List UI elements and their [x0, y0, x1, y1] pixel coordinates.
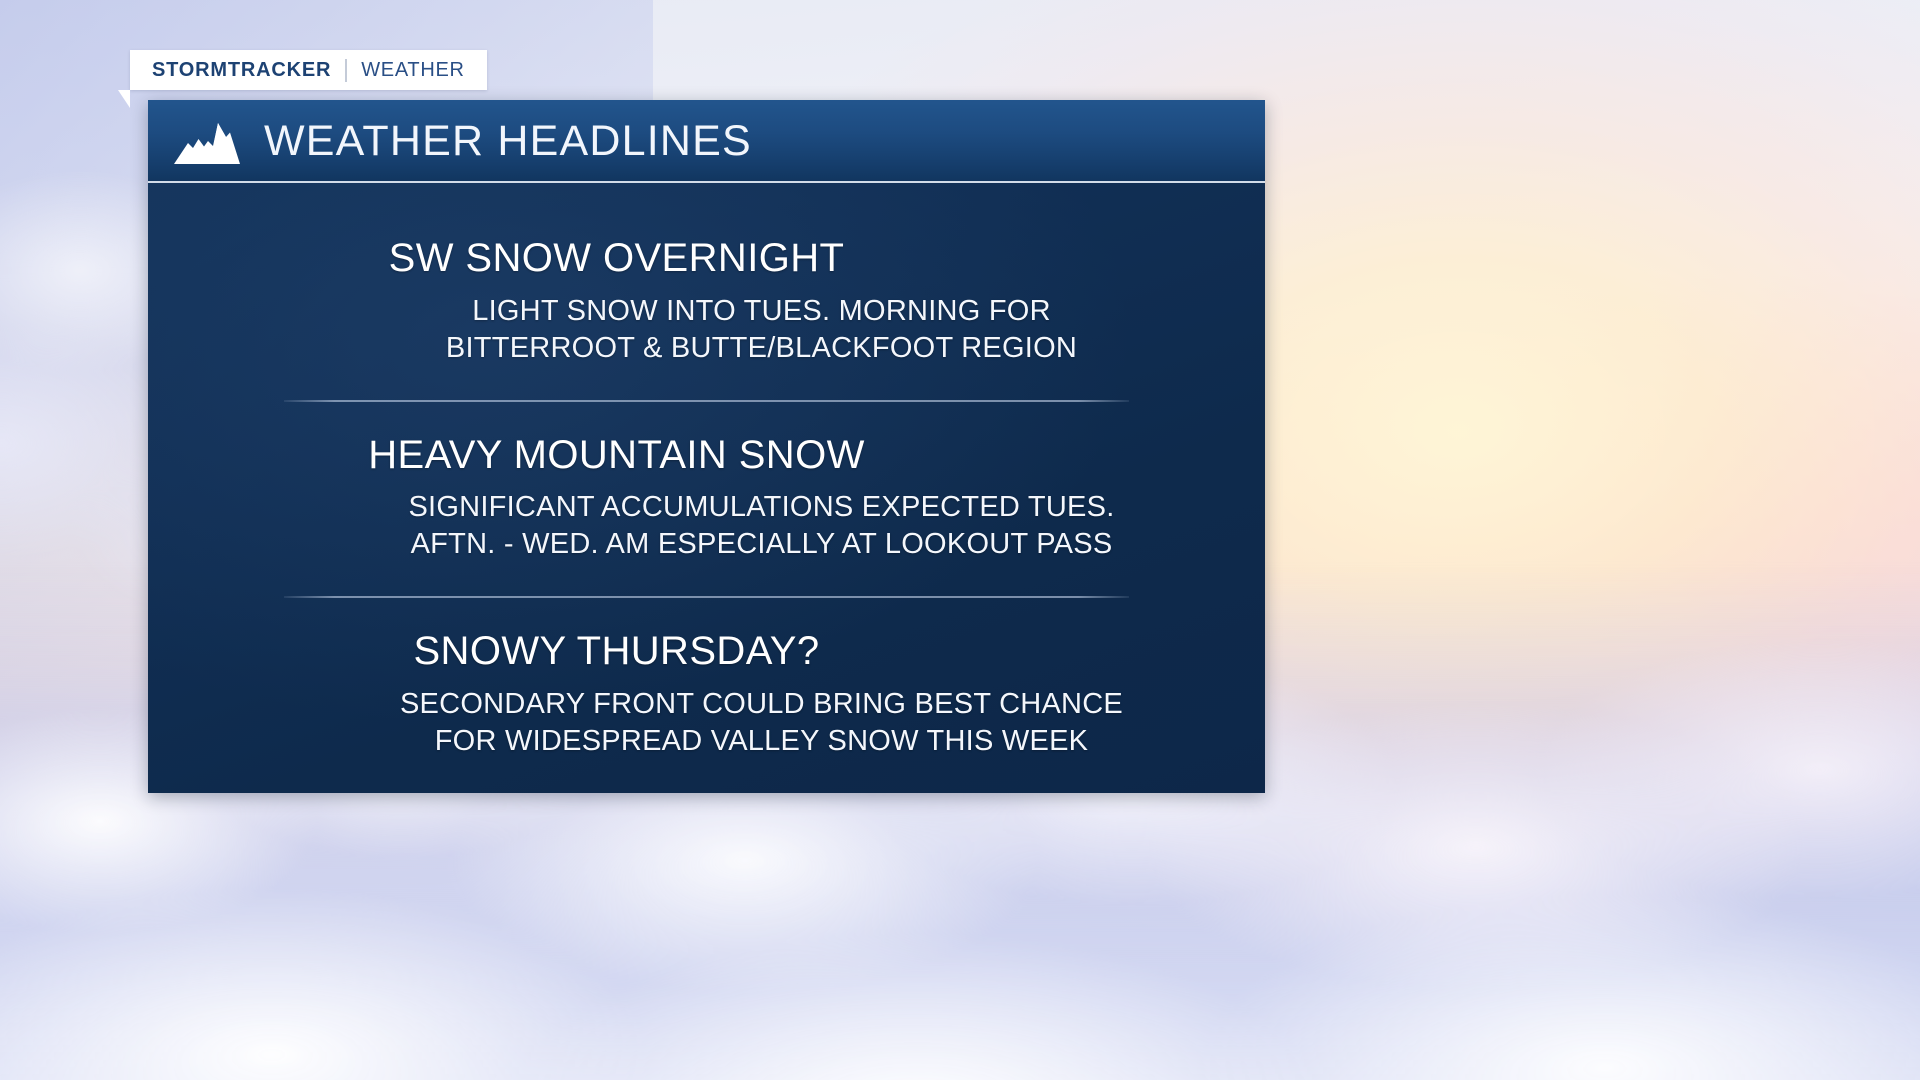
headline-subtext-line1: SECONDARY FRONT COULD BRING BEST CHANCE [400, 688, 1123, 720]
headline-subtext: SIGNIFICANT ACCUMULATIONS EXPECTED TUES.… [188, 489, 1225, 563]
weather-graphic-stage: STORMTRACKER WEATHER WEATHER HEADLINES S… [0, 0, 1920, 1080]
headlines-list: SW SNOW OVERNIGHT LIGHT SNOW INTO TUES. … [148, 183, 1265, 793]
headline-item: SNOWY THURSDAY? SECONDARY FRONT COULD BR… [148, 598, 1265, 793]
headline-item: SW SNOW OVERNIGHT LIGHT SNOW INTO TUES. … [148, 205, 1265, 400]
weather-headlines-panel: WEATHER HEADLINES SW SNOW OVERNIGHT LIGH… [148, 100, 1265, 793]
headline-subtext-line2: AFTN. - WED. AM ESPECIALLY AT LOOKOUT PA… [298, 526, 1225, 563]
headline-subtext-line2: BITTERROOT & BUTTE/BLACKFOOT REGION [298, 330, 1225, 367]
brand-tab-tail [118, 90, 130, 108]
panel-title: WEATHER HEADLINES [264, 117, 752, 166]
headline-title: SNOWY THURSDAY? [188, 629, 1225, 674]
headline-subtext-line1: SIGNIFICANT ACCUMULATIONS EXPECTED TUES. [408, 491, 1114, 523]
headline-subtext-line1: LIGHT SNOW INTO TUES. MORNING FOR [472, 295, 1051, 327]
panel-header: WEATHER HEADLINES [148, 100, 1265, 183]
headline-subtext: SECONDARY FRONT COULD BRING BEST CHANCE … [188, 686, 1225, 760]
headline-subtext-line2: FOR WIDESPREAD VALLEY SNOW THIS WEEK [298, 723, 1225, 760]
headline-title: HEAVY MOUNTAIN SNOW [188, 433, 1225, 478]
brand-secondary-label: WEATHER [361, 59, 464, 82]
headline-title: SW SNOW OVERNIGHT [188, 236, 1225, 281]
brand-divider [345, 59, 347, 82]
headline-subtext: LIGHT SNOW INTO TUES. MORNING FOR BITTER… [188, 293, 1225, 367]
mountain-icon [172, 119, 242, 165]
brand-primary-label: STORMTRACKER [152, 59, 331, 82]
headline-item: HEAVY MOUNTAIN SNOW SIGNIFICANT ACCUMULA… [148, 402, 1265, 597]
brand-tab[interactable]: STORMTRACKER WEATHER [130, 50, 487, 90]
